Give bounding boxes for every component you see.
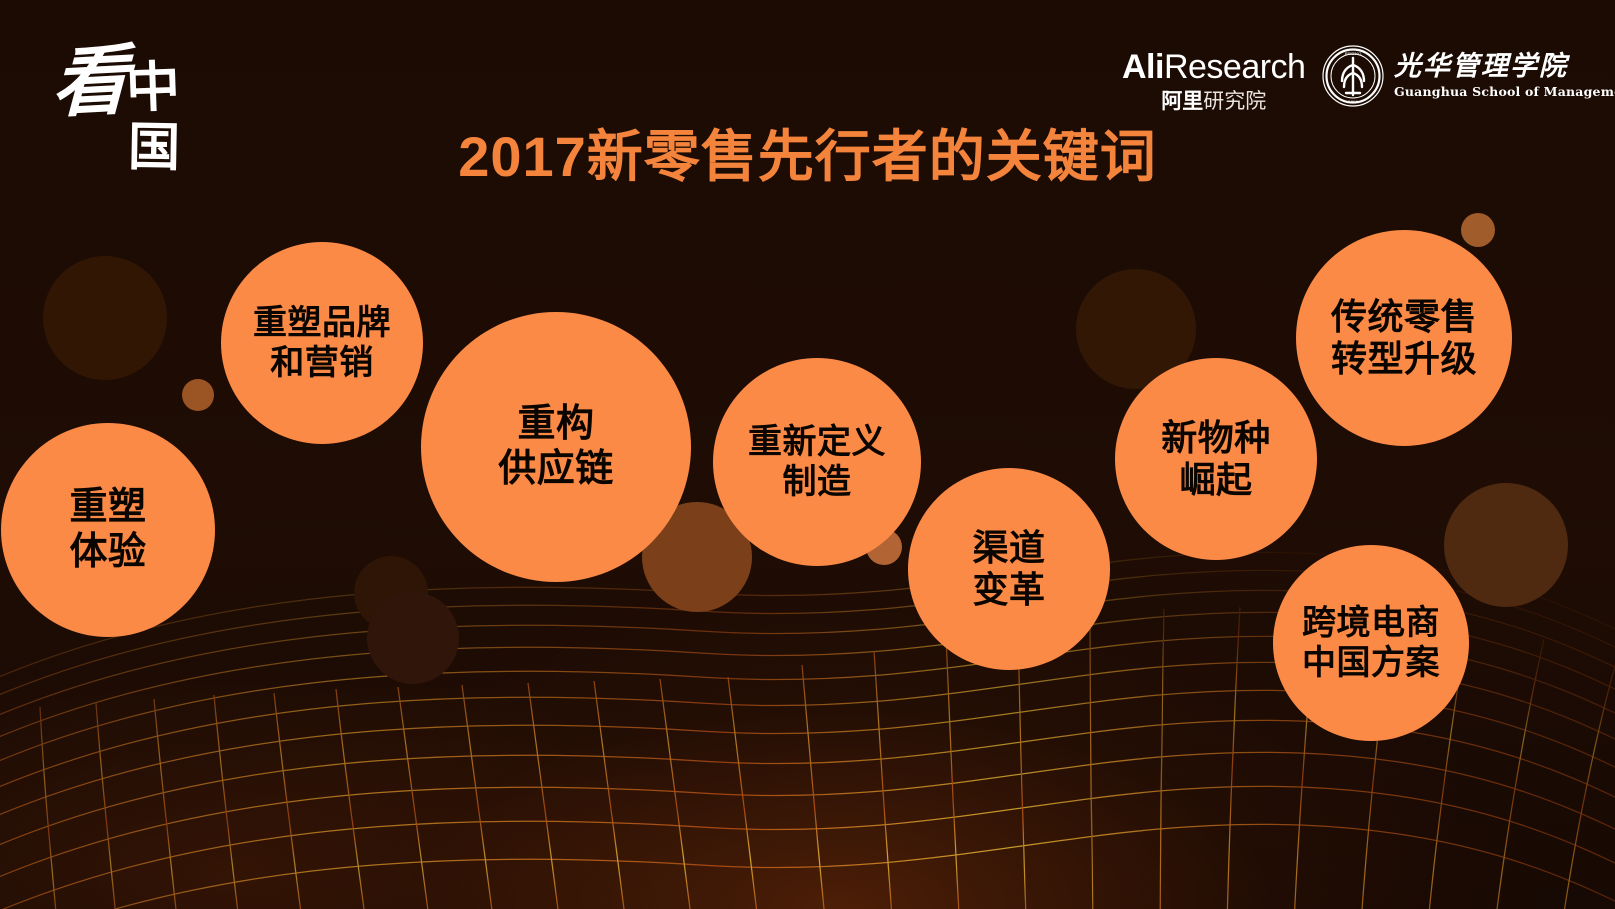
deco-8 (1444, 483, 1568, 607)
bubble-label: 重塑体验 (69, 485, 146, 575)
bubble-label-line: 重塑品牌 (253, 303, 391, 343)
ali-research-en-bold: Ali (1122, 48, 1164, 86)
bubble-label-line: 重塑 (69, 485, 146, 530)
svg-text:PEKING: PEKING (1345, 51, 1362, 56)
guanghua-name-cn: 光华管理学院 (1394, 53, 1615, 80)
bubble-label: 渠道变革 (972, 527, 1045, 612)
ali-research-logo: AliResearch 阿里研究院 (1122, 50, 1305, 112)
bubble-label: 重构供应链 (498, 402, 614, 492)
deco-2 (182, 379, 214, 411)
bubble-cross-border-ecommerce[interactable]: 跨境电商中国方案 (1273, 545, 1469, 741)
bubble-label-line: 制造 (748, 462, 886, 502)
bubble-label-line: 跨境电商 (1302, 603, 1440, 643)
kanzhongguo-char-zhong: 中 (125, 59, 181, 115)
bubble-label-line: 中国方案 (1302, 643, 1440, 683)
svg-text:1898: 1898 (1348, 99, 1359, 104)
bubble-rebuild-supply-chain[interactable]: 重构供应链 (421, 312, 691, 582)
bubble-label-line: 新物种 (1161, 417, 1271, 459)
guanghua-name-en: Guanghua School of Management (1394, 86, 1615, 99)
bubble-label-line: 传统零售 (1331, 296, 1477, 338)
bubble-label: 重新定义制造 (748, 422, 886, 502)
ali-research-logo-cn: 阿里研究院 (1122, 91, 1305, 112)
bubble-reshape-experience[interactable]: 重塑体验 (1, 423, 215, 637)
bubble-new-species-rise[interactable]: 新物种崛起 (1115, 358, 1317, 560)
bubble-label-line: 变革 (972, 569, 1045, 611)
ali-research-cn-light: 研究院 (1203, 89, 1266, 113)
ali-research-en-light: Research (1164, 48, 1306, 86)
guanghua-logo: PEKING 1898 光华管理学院 Guanghua School of Ma… (1322, 45, 1615, 107)
bubble-label-line: 重构 (498, 402, 614, 447)
bubble-label: 重塑品牌和营销 (253, 303, 391, 383)
ali-research-cn-bold: 阿里 (1161, 89, 1203, 113)
deco-1 (43, 256, 167, 380)
bubble-label-line: 体验 (69, 530, 146, 575)
bubble-label: 跨境电商中国方案 (1302, 603, 1440, 683)
bubble-traditional-retail-upgrade[interactable]: 传统零售转型升级 (1296, 230, 1512, 446)
bubble-redefine-manufacturing[interactable]: 重新定义制造 (713, 358, 921, 566)
ali-research-logo-en: AliResearch (1122, 50, 1305, 84)
bubble-label: 传统零售转型升级 (1331, 296, 1477, 381)
bubble-channel-reform[interactable]: 渠道变革 (908, 468, 1110, 670)
seal-svg: PEKING 1898 (1322, 45, 1384, 107)
deco-7 (1461, 213, 1495, 247)
peking-university-seal-icon: PEKING 1898 (1322, 45, 1384, 107)
deco-9 (367, 592, 459, 684)
slide-title: 2017新零售先行者的关键词 (0, 112, 1615, 193)
bubble-label-line: 转型升级 (1331, 338, 1477, 380)
bubble-label-line: 渠道 (972, 527, 1045, 569)
bubble-label-line: 供应链 (498, 447, 614, 492)
bubble-label-line: 崛起 (1161, 459, 1271, 501)
bubble-label-line: 和营销 (253, 343, 391, 383)
bubble-label: 新物种崛起 (1161, 417, 1271, 502)
bubble-label-line: 重新定义 (748, 422, 886, 462)
bubble-reshape-brand-marketing[interactable]: 重塑品牌和营销 (221, 242, 423, 444)
slide-canvas: 看 中 国 AliResearch 阿里研究院 (0, 0, 1615, 909)
guanghua-logo-text: 光华管理学院 Guanghua School of Management (1394, 53, 1615, 99)
kanzhongguo-char-kan: 看 (51, 42, 129, 122)
